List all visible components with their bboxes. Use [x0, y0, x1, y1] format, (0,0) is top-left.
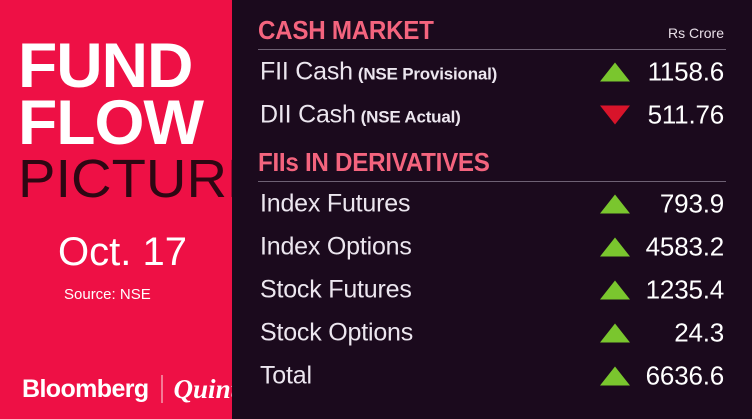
data-panel: CASH MARKET Rs Crore FII Cash(NSE Provis…	[232, 0, 752, 419]
logo-divider	[161, 375, 163, 403]
section-cash-market: CASH MARKET Rs Crore FII Cash(NSE Provis…	[258, 14, 726, 136]
row-label-sub: (NSE Actual)	[361, 107, 461, 126]
brand-panel: FUND FLOW PICTURE Oct. 17 Source: NSE Bl…	[0, 0, 232, 419]
table-row: FII Cash(NSE Provisional) 1158.6	[258, 50, 726, 93]
row-value: 24.3	[674, 317, 724, 348]
row-value: 1158.6	[648, 56, 724, 87]
arrow-up-icon	[600, 62, 630, 81]
table-row: Index Options 4583.2	[258, 225, 726, 268]
row-label-main: DII Cash	[260, 100, 356, 128]
table-row: Total 6636.6	[258, 354, 726, 397]
date-label: Oct. 17	[58, 230, 187, 275]
row-value: 511.76	[648, 99, 724, 130]
row-value: 793.9	[660, 188, 724, 219]
row-label-sub: (NSE Provisional)	[358, 64, 497, 83]
brand-line-picture: PICTURE	[18, 153, 231, 205]
logo-quint-text: Quint	[174, 376, 239, 403]
row-label: FII Cash(NSE Provisional)	[260, 57, 497, 86]
brand-line-flow: FLOW	[18, 95, 227, 152]
row-value: 6636.6	[646, 360, 724, 391]
logo-bloomberg-text: Bloomberg	[22, 377, 149, 402]
section-title: CASH MARKET	[258, 15, 434, 46]
row-label: Stock Options	[260, 318, 413, 347]
brand-line-fund: FUND	[18, 38, 227, 95]
row-label: DII Cash(NSE Actual)	[260, 100, 461, 129]
source-label: Source: NSE	[64, 286, 151, 303]
infographic-canvas: FUND FLOW PICTURE Oct. 17 Source: NSE Bl…	[0, 0, 752, 419]
arrow-up-icon	[600, 280, 630, 299]
row-label: Stock Futures	[260, 275, 412, 304]
row-label: Index Futures	[260, 189, 410, 218]
table-row: Index Futures 793.9	[258, 182, 726, 225]
table-row: DII Cash(NSE Actual) 511.76	[258, 93, 726, 136]
arrow-up-icon	[600, 323, 630, 342]
arrow-up-icon	[600, 237, 630, 256]
brand-title: FUND FLOW PICTURE	[18, 38, 223, 206]
section-header: FIIs IN DERIVATIVES	[258, 146, 726, 180]
row-label: Total	[260, 361, 312, 390]
section-header: CASH MARKET Rs Crore	[258, 14, 726, 48]
arrow-down-icon	[600, 105, 630, 124]
table-row: Stock Options 24.3	[258, 311, 726, 354]
unit-label: Rs Crore	[668, 25, 724, 41]
table-row: Stock Futures 1235.4	[258, 268, 726, 311]
section-title: FIIs IN DERIVATIVES	[258, 147, 490, 178]
row-value: 4583.2	[646, 231, 724, 262]
row-value: 1235.4	[646, 274, 724, 305]
row-label-main: FII Cash	[260, 57, 353, 85]
bloombergquint-logo: Bloomberg Quint	[22, 375, 238, 403]
section-fiis-in-derivatives: FIIs IN DERIVATIVES Index Futures 793.9 …	[258, 146, 726, 397]
row-label: Index Options	[260, 232, 412, 261]
arrow-up-icon	[600, 194, 630, 213]
arrow-up-icon	[600, 366, 630, 385]
